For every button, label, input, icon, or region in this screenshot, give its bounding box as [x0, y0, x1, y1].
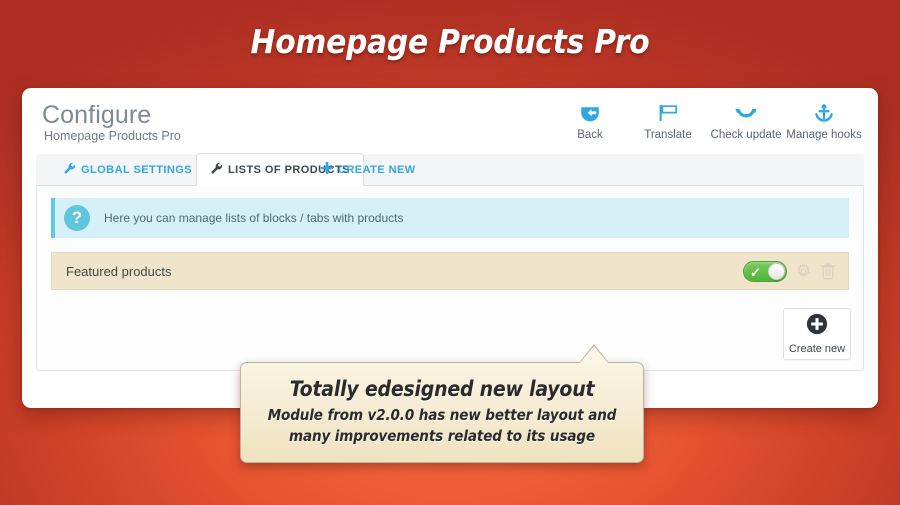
flag-icon — [630, 100, 706, 126]
header-toolbar: Back Translate — [552, 98, 862, 141]
tab-bar: GLOBAL SETTINGS LISTS OF PRODUCTS CREATE… — [36, 154, 864, 186]
tab-create-new[interactable]: CREATE NEW — [308, 153, 429, 186]
translate-button[interactable]: Translate — [630, 98, 706, 141]
trash-icon[interactable] — [820, 263, 836, 280]
wrench-icon — [210, 162, 223, 178]
callout-arrow-fill — [579, 346, 609, 364]
tab-global-settings[interactable]: GLOBAL SETTINGS — [50, 153, 205, 186]
manage-hooks-label: Manage hooks — [786, 129, 862, 141]
list-item-actions: ✓ — [743, 261, 836, 282]
status-toggle[interactable]: ✓ — [743, 261, 787, 282]
panel-header: Configure Homepage Products Pro Back — [22, 88, 878, 154]
refresh-icon — [708, 100, 784, 126]
list-item-label: Featured products — [66, 264, 743, 279]
wrench-icon — [63, 162, 76, 178]
translate-label: Translate — [630, 129, 706, 141]
content-panel: ? Here you can manage lists of blocks / … — [36, 186, 864, 371]
back-label: Back — [552, 129, 628, 141]
feature-callout: Totally edesigned new layout Module from… — [240, 362, 644, 463]
header-titles: Configure Homepage Products Pro — [42, 101, 181, 144]
configure-panel: Configure Homepage Products Pro Back — [22, 88, 878, 408]
tab-create-new-label: CREATE NEW — [338, 164, 416, 176]
callout-body: Module from v2.0.0 has new better layout… — [257, 405, 627, 447]
manage-hooks-button[interactable]: Manage hooks — [786, 98, 862, 141]
back-arrow-icon — [552, 100, 628, 126]
gear-icon[interactable] — [795, 263, 812, 280]
check-icon: ✓ — [750, 264, 761, 281]
list-item[interactable]: Featured products ✓ — [51, 252, 849, 290]
plus-circle-icon — [806, 313, 828, 340]
anchor-icon — [786, 100, 862, 126]
tab-global-settings-label: GLOBAL SETTINGS — [81, 164, 192, 176]
back-button[interactable]: Back — [552, 98, 628, 141]
page-title: Configure — [42, 101, 181, 129]
callout-heading: Totally edesigned new layout — [257, 376, 627, 402]
create-new-button[interactable]: Create new — [783, 308, 851, 360]
page-subtitle: Homepage Products Pro — [44, 129, 181, 144]
info-banner-text: Here you can manage lists of blocks / ta… — [104, 211, 403, 225]
question-mark-icon: ? — [64, 205, 90, 231]
screenshot-stage: Homepage Products Pro Configure Homepage… — [0, 0, 900, 505]
check-update-label: Check update — [708, 129, 784, 141]
create-new-button-label: Create new — [789, 343, 845, 355]
plus-icon — [321, 162, 333, 177]
check-update-button[interactable]: Check update — [708, 98, 784, 141]
toggle-knob — [768, 263, 785, 280]
banner-title: Homepage Products Pro — [0, 22, 900, 61]
info-banner: ? Here you can manage lists of blocks / … — [51, 198, 849, 238]
